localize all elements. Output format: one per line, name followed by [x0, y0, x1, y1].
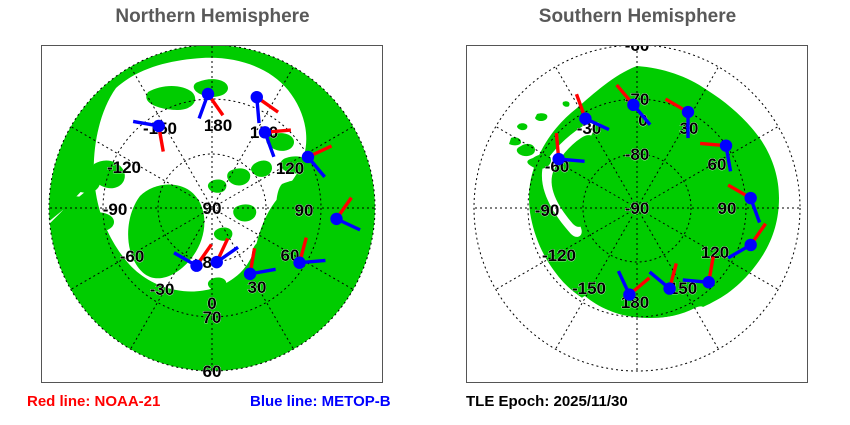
satellite-position-marker: [211, 256, 223, 268]
satellite-position-marker: [302, 151, 314, 163]
north-lon-label-m30: -30: [150, 280, 175, 299]
north-lat-label-90: 90: [203, 199, 222, 218]
satellite-position-marker: [623, 288, 635, 300]
satellite-position-marker: [153, 120, 165, 132]
northern-hemisphere-plot-frame: 90 80 70 60 180 -150 -120 -90 -60 -30 0 …: [41, 45, 383, 383]
north-lon-label-m90: -90: [103, 200, 128, 219]
north-lon-label-90: 90: [295, 201, 314, 220]
legend-noaa-21: Red line: NOAA-21: [27, 393, 160, 410]
satellite-position-marker: [202, 88, 214, 100]
southern-hemisphere-title: Southern Hemisphere: [425, 6, 850, 28]
satellite-position-marker: [251, 91, 263, 103]
north-lon-label-0: 0: [207, 294, 216, 313]
satellite-position-marker: [259, 126, 271, 138]
southern-hemisphere-map: -90 -80 -70 -60 0 30 60 90 120 150 180 -…: [467, 46, 807, 382]
south-lat-label-m90: -90: [625, 199, 650, 218]
south-lon-label-120: 120: [701, 243, 729, 262]
northern-hemisphere-panel: Northern Hemisphere: [0, 0, 425, 390]
north-lon-label-30: 30: [248, 278, 267, 297]
legend-bar: Red line: NOAA-21 Blue line: METOP-B TLE…: [0, 390, 850, 425]
satellite-position-marker: [579, 112, 591, 124]
south-lat-label-m60: -60: [625, 46, 650, 55]
south-lat-label-m80: -80: [625, 145, 650, 164]
satellite-position-marker: [293, 257, 305, 269]
north-lon-label-120: 120: [276, 159, 304, 178]
satellite-position-marker: [627, 99, 639, 111]
satellite-position-marker: [552, 153, 564, 165]
north-lon-label-m120: -120: [107, 158, 141, 177]
satellite-position-marker: [663, 282, 675, 294]
northern-hemisphere-map: 90 80 70 60 180 -150 -120 -90 -60 -30 0 …: [42, 46, 382, 382]
north-lon-label-180: 180: [204, 116, 232, 135]
satellite-position-marker: [744, 192, 756, 204]
north-lon-label-m60: -60: [120, 247, 145, 266]
legend-tle-epoch: TLE Epoch: 2025/11/30: [466, 393, 628, 410]
south-lon-label-90: 90: [718, 199, 737, 218]
southern-hemisphere-panel: Southern Hemisphere: [425, 0, 850, 390]
legend-metop-b: Blue line: METOP-B: [250, 393, 391, 410]
satellite-ground-track-page: Northern Hemisphere: [0, 0, 850, 425]
satellite-position-marker: [330, 213, 342, 225]
satellite-position-marker: [703, 276, 715, 288]
south-lon-label-60: 60: [708, 155, 727, 174]
satellite-position-marker: [744, 239, 756, 251]
satellite-position-marker: [682, 106, 694, 118]
southern-hemisphere-plot-frame: -90 -80 -70 -60 0 30 60 90 120 150 180 -…: [466, 45, 808, 383]
south-lon-label-m120: -120: [542, 246, 576, 265]
south-lon-label-m90: -90: [535, 201, 560, 220]
northern-hemisphere-title: Northern Hemisphere: [0, 6, 425, 28]
north-lat-label-60: 60: [203, 362, 222, 381]
satellite-position-marker: [244, 268, 256, 280]
satellite-position-marker: [720, 139, 732, 151]
south-lon-label-m150: -150: [572, 279, 606, 298]
satellite-position-marker: [190, 260, 202, 272]
